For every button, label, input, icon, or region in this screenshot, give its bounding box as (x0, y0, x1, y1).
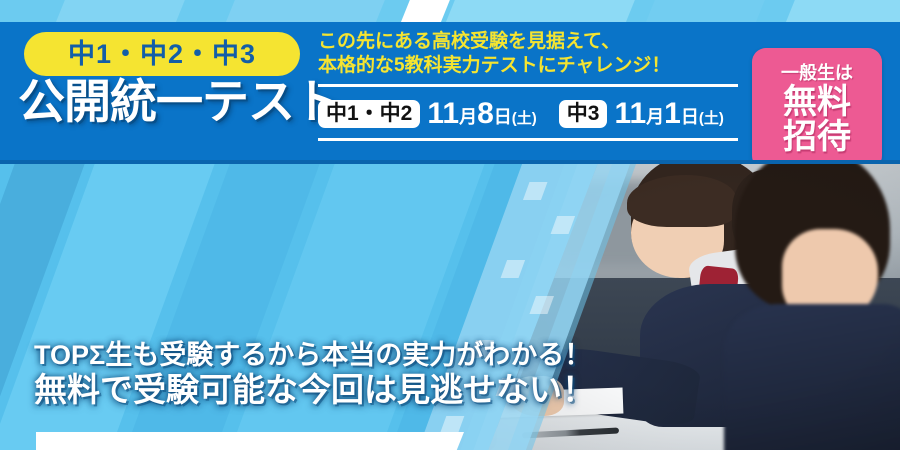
date-month-2: 11 (614, 99, 646, 129)
band-square (440, 416, 465, 434)
date-tag-grade-1-2: 中1・中2 (318, 100, 420, 128)
headline-line-1: TOPΣ生も受験するから本当の実力がわかる！ (34, 340, 595, 370)
date-weekday-2: (土) (699, 111, 724, 126)
header-copy-block: この先にある高校受験を見据えて、 本格的な5教科実力テストにチャレンジ！ 中1・… (318, 30, 746, 141)
card-title: 〜君の可能性を強力にサポート〜 (62, 444, 430, 450)
date-month-1: 11 (427, 99, 459, 129)
grade-pill: 中1・中2・中3 (24, 32, 300, 76)
stripe-shape (781, 0, 900, 22)
date-month-unit-2: 月 (646, 108, 664, 126)
band-square (529, 296, 554, 314)
date-day-2: 1 (664, 99, 681, 129)
banner-body: TOPΣ生も受験するから本当の実力がわかる！ 無料で受験可能な今回は見逃せない！… (0, 164, 900, 450)
promo-banner: 中1・中2・中3 公開統一テスト この先にある高校受験を見据えて、 本格的な5教… (0, 0, 900, 450)
band-square (501, 260, 526, 278)
free-badge-line-2: 招待 (783, 120, 851, 155)
grade-pill-label: 中1・中2・中3 (68, 41, 256, 68)
free-badge-line-1: 無料 (783, 85, 851, 120)
stripe-shape (396, 0, 454, 22)
band-square (523, 182, 548, 200)
copy-line-2: 本格的な5教科実力テストにチャレンジ！ (318, 54, 746, 78)
free-badge-top-label: 一般生は (781, 64, 853, 82)
divider-bottom (318, 138, 738, 141)
copy-line-1: この先にある高校受験を見据えて、 (318, 30, 746, 54)
date-day-unit-1: 日 (494, 108, 512, 126)
banner-header: 中1・中2・中3 公開統一テスト この先にある高校受験を見据えて、 本格的な5教… (0, 22, 900, 164)
page-title: 公開統一テスト (18, 78, 340, 125)
date-value-1: 11 月 8 日 (土) (427, 99, 536, 129)
exam-dates: 中1・中2 11 月 8 日 (土) 中3 11 月 1 日 (土) (318, 94, 746, 134)
date-day-1: 8 (477, 99, 494, 129)
divider-top (318, 84, 738, 87)
date-tag-grade-3: 中3 (559, 100, 608, 128)
headline-block: TOPΣ生も受験するから本当の実力がわかる！ 無料で受験可能な今回は見逃せない！ (34, 340, 595, 409)
stripe-shape (221, 0, 389, 22)
stripe-shape (441, 0, 639, 22)
stripe-shape (51, 0, 189, 22)
support-info-card: 〜君の可能性を強力にサポート〜 分野別の分析で得意・苦手がわかる詳しい成績表！ … (36, 432, 464, 450)
top-decorative-strip (0, 0, 900, 22)
free-invitation-badge: 一般生は 無料 招待 (752, 48, 882, 164)
band-square (551, 216, 576, 234)
date-day-unit-2: 日 (681, 108, 699, 126)
date-month-unit-1: 月 (459, 108, 477, 126)
headline-line-2: 無料で受験可能な今回は見逃せない！ (34, 372, 595, 409)
date-value-2: 11 月 1 日 (土) (614, 99, 723, 129)
date-weekday-1: (土) (512, 111, 537, 126)
stripe-shape (641, 0, 769, 22)
